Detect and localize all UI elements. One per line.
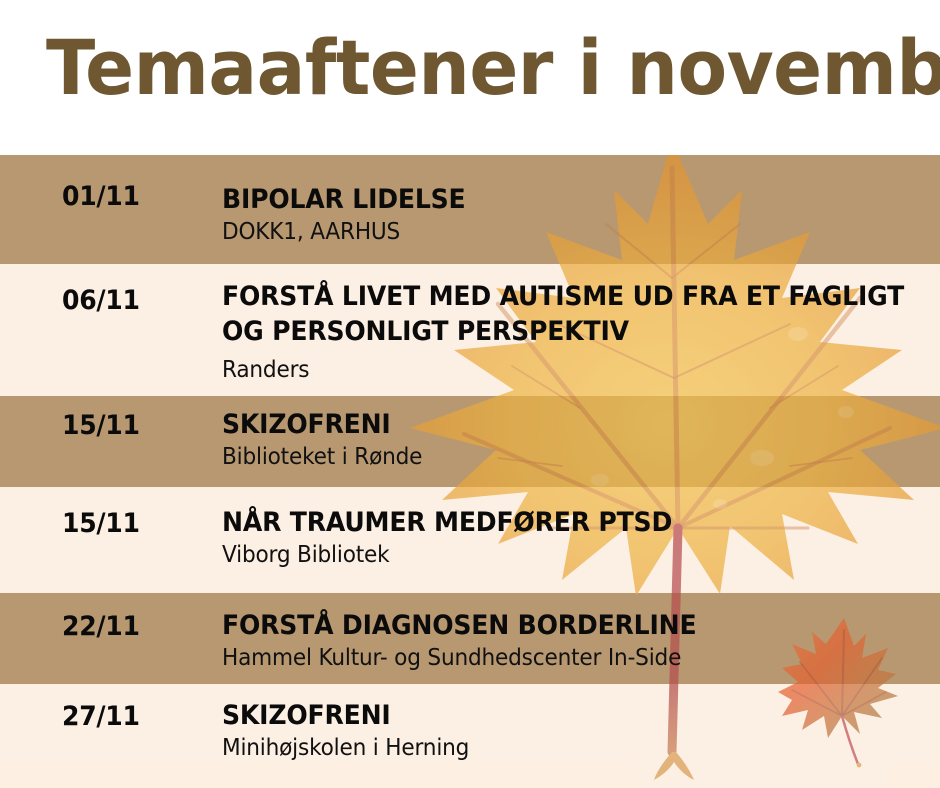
page-title: Temaaftener i november — [46, 26, 863, 110]
event-title: FORSTÅ DIAGNOSEN BORDERLINE — [222, 608, 873, 643]
event-date: 27/11 — [62, 702, 140, 732]
event-date: 15/11 — [62, 411, 140, 441]
event-venue: DOKK1, AARHUS — [222, 217, 880, 247]
event-title: SKIZOFRENI — [222, 698, 873, 733]
event-row: 15/11 NÅR TRAUMER MEDFØRER PTSD Viborg B… — [0, 487, 940, 593]
event-body: SKIZOFRENI Biblioteket i Rønde — [222, 407, 922, 472]
event-title: NÅR TRAUMER MEDFØRER PTSD — [222, 505, 873, 540]
event-venue: Viborg Bibliotek — [222, 540, 880, 570]
event-venue: Biblioteket i Rønde — [222, 442, 880, 472]
event-body: FORSTÅ LIVET MED AUTISME UD FRA ET FAGLI… — [222, 279, 922, 385]
event-row: 27/11 SKIZOFRENI Minihøjskolen i Herning — [0, 684, 940, 788]
event-title: BIPOLAR LIDELSE — [222, 182, 873, 217]
event-body: FORSTÅ DIAGNOSEN BORDERLINE Hammel Kultu… — [222, 608, 922, 673]
event-title: SKIZOFRENI — [222, 407, 873, 442]
event-date: 15/11 — [62, 509, 140, 539]
event-venue: Randers — [222, 355, 880, 385]
event-date: 01/11 — [62, 182, 140, 212]
event-date: 22/11 — [62, 612, 140, 642]
event-venue: Hammel Kultur- og Sundhedscenter In-Side — [222, 643, 880, 673]
event-row: 15/11 SKIZOFRENI Biblioteket i Rønde — [0, 396, 940, 487]
event-row: 01/11 BIPOLAR LIDELSE DOKK1, AARHUS — [0, 155, 940, 264]
event-row: 22/11 FORSTÅ DIAGNOSEN BORDERLINE Hammel… — [0, 593, 940, 684]
event-body: BIPOLAR LIDELSE DOKK1, AARHUS — [222, 182, 922, 247]
event-body: NÅR TRAUMER MEDFØRER PTSD Viborg Bibliot… — [222, 505, 922, 570]
event-row: 06/11 FORSTÅ LIVET MED AUTISME UD FRA ET… — [0, 264, 940, 396]
poster-header: Temaaftener i november — [0, 0, 940, 155]
event-title: FORSTÅ LIVET MED AUTISME UD FRA ET FAGLI… — [222, 279, 910, 349]
event-date: 06/11 — [62, 286, 140, 316]
event-body: SKIZOFRENI Minihøjskolen i Herning — [222, 698, 922, 763]
event-venue: Minihøjskolen i Herning — [222, 733, 880, 763]
poster-canvas: 01/11 BIPOLAR LIDELSE DOKK1, AARHUS 06/1… — [0, 0, 940, 788]
